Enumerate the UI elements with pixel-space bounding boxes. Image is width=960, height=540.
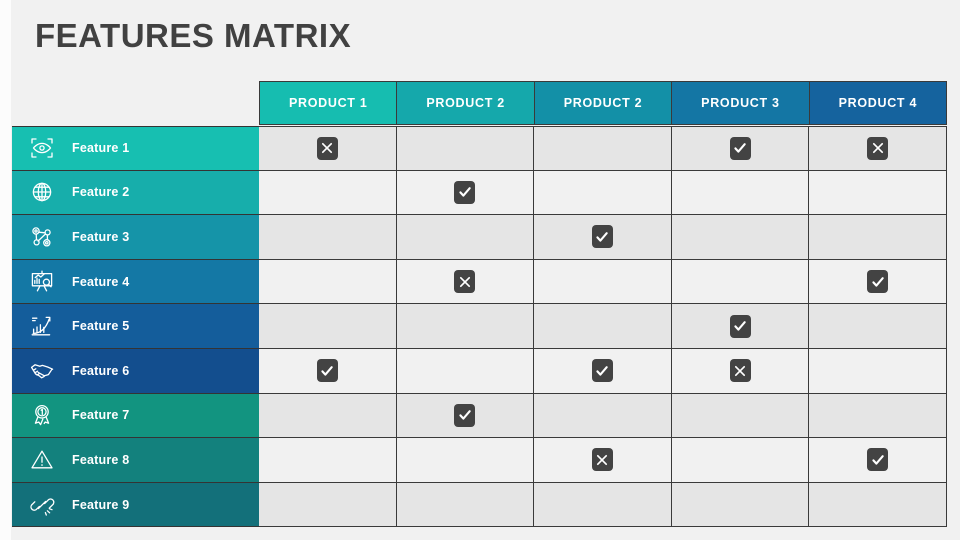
eye-scan-icon	[12, 135, 72, 161]
feature-label: Feature 4	[72, 275, 129, 289]
feature-label: Feature 3	[72, 230, 129, 244]
check-icon[interactable]	[730, 315, 751, 338]
check-icon[interactable]	[317, 359, 338, 382]
features-matrix-grid: Feature 1 Feature 2 Feature 3 Feature 4 …	[12, 126, 947, 527]
feature-label: Feature 1	[72, 141, 129, 155]
matrix-cell-r9-c1[interactable]	[259, 483, 397, 528]
product-header-cell-4[interactable]: PRODUCT 3	[672, 81, 809, 125]
check-icon[interactable]	[454, 404, 475, 427]
matrix-row: Feature 5	[12, 304, 947, 349]
check-icon[interactable]	[730, 137, 751, 160]
matrix-row: Feature 4	[12, 260, 947, 305]
check-icon[interactable]	[592, 359, 613, 382]
matrix-cell-r5-c3[interactable]	[534, 304, 672, 349]
globe-icon	[12, 179, 72, 205]
feature-cell-9[interactable]: Feature 9	[12, 483, 259, 528]
matrix-cell-r1-c3[interactable]	[534, 126, 672, 171]
matrix-cell-r7-c1[interactable]	[259, 394, 397, 439]
matrix-cell-r2-c3[interactable]	[534, 171, 672, 216]
matrix-cell-r1-c5[interactable]	[809, 126, 947, 171]
matrix-cell-r4-c2[interactable]	[397, 260, 535, 305]
left-edge-strip	[0, 0, 11, 540]
award-ribbon-icon	[12, 402, 72, 428]
matrix-row: Feature 6	[12, 349, 947, 394]
matrix-cell-r4-c1[interactable]	[259, 260, 397, 305]
product-header-cell-3[interactable]: PRODUCT 2	[535, 81, 672, 125]
matrix-cell-r6-c3[interactable]	[534, 349, 672, 394]
page-title: FEATURES MATRIX	[35, 17, 351, 55]
matrix-row: Feature 8	[12, 438, 947, 483]
matrix-cell-r2-c1[interactable]	[259, 171, 397, 216]
feature-label: Feature 7	[72, 408, 129, 422]
matrix-cell-r9-c5[interactable]	[809, 483, 947, 528]
matrix-cell-r9-c2[interactable]	[397, 483, 535, 528]
feature-label: Feature 2	[72, 185, 129, 199]
product-header-cell-2[interactable]: PRODUCT 2	[397, 81, 534, 125]
matrix-cell-r3-c5[interactable]	[809, 215, 947, 260]
check-icon[interactable]	[867, 270, 888, 293]
feature-cell-7[interactable]: Feature 7	[12, 394, 259, 439]
matrix-cell-r1-c4[interactable]	[672, 126, 810, 171]
matrix-cell-r3-c4[interactable]	[672, 215, 810, 260]
matrix-cell-r3-c3[interactable]	[534, 215, 672, 260]
network-nodes-icon	[12, 224, 72, 250]
feature-cell-8[interactable]: Feature 8	[12, 438, 259, 483]
broken-link-icon	[12, 492, 72, 518]
matrix-cell-r5-c2[interactable]	[397, 304, 535, 349]
cross-icon[interactable]	[867, 137, 888, 160]
feature-label: Feature 9	[72, 498, 129, 512]
feature-cell-5[interactable]: Feature 5	[12, 304, 259, 349]
growth-chart-icon	[12, 313, 72, 339]
matrix-cell-r3-c1[interactable]	[259, 215, 397, 260]
matrix-cell-r6-c2[interactable]	[397, 349, 535, 394]
check-icon[interactable]	[454, 181, 475, 204]
feature-cell-3[interactable]: Feature 3	[12, 215, 259, 260]
matrix-row: Feature 1	[12, 126, 947, 171]
matrix-cell-r7-c3[interactable]	[534, 394, 672, 439]
matrix-row: Feature 3	[12, 215, 947, 260]
feature-label: Feature 5	[72, 319, 129, 333]
check-icon[interactable]	[592, 225, 613, 248]
matrix-cell-r2-c4[interactable]	[672, 171, 810, 216]
matrix-cell-r1-c2[interactable]	[397, 126, 535, 171]
matrix-cell-r9-c3[interactable]	[534, 483, 672, 528]
matrix-row: Feature 7	[12, 394, 947, 439]
matrix-cell-r3-c2[interactable]	[397, 215, 535, 260]
matrix-cell-r6-c4[interactable]	[672, 349, 810, 394]
matrix-cell-r4-c4[interactable]	[672, 260, 810, 305]
matrix-row: Feature 2	[12, 171, 947, 216]
product-header-row: PRODUCT 1PRODUCT 2PRODUCT 2PRODUCT 3PROD…	[259, 81, 947, 125]
matrix-row: Feature 9	[12, 483, 947, 528]
matrix-cell-r8-c1[interactable]	[259, 438, 397, 483]
matrix-cell-r8-c5[interactable]	[809, 438, 947, 483]
cross-icon[interactable]	[454, 270, 475, 293]
product-header-cell-1[interactable]: PRODUCT 1	[259, 81, 397, 125]
matrix-cell-r7-c5[interactable]	[809, 394, 947, 439]
matrix-cell-r8-c2[interactable]	[397, 438, 535, 483]
matrix-cell-r7-c2[interactable]	[397, 394, 535, 439]
matrix-cell-r8-c3[interactable]	[534, 438, 672, 483]
matrix-cell-r4-c5[interactable]	[809, 260, 947, 305]
feature-label: Feature 8	[72, 453, 129, 467]
feature-cell-6[interactable]: Feature 6	[12, 349, 259, 394]
matrix-cell-r5-c5[interactable]	[809, 304, 947, 349]
matrix-cell-r1-c1[interactable]	[259, 126, 397, 171]
matrix-cell-r6-c1[interactable]	[259, 349, 397, 394]
matrix-cell-r6-c5[interactable]	[809, 349, 947, 394]
matrix-cell-r9-c4[interactable]	[672, 483, 810, 528]
matrix-cell-r2-c5[interactable]	[809, 171, 947, 216]
matrix-cell-r4-c3[interactable]	[534, 260, 672, 305]
warning-icon	[12, 447, 72, 473]
feature-cell-1[interactable]: Feature 1	[12, 126, 259, 171]
cross-icon[interactable]	[592, 448, 613, 471]
cross-icon[interactable]	[317, 137, 338, 160]
feature-cell-2[interactable]: Feature 2	[12, 171, 259, 216]
matrix-cell-r5-c4[interactable]	[672, 304, 810, 349]
feature-cell-4[interactable]: Feature 4	[12, 260, 259, 305]
matrix-cell-r5-c1[interactable]	[259, 304, 397, 349]
product-header-cell-5[interactable]: PRODUCT 4	[810, 81, 947, 125]
cross-icon[interactable]	[730, 359, 751, 382]
check-icon[interactable]	[867, 448, 888, 471]
chart-search-icon	[12, 269, 72, 295]
slide-canvas: FEATURES MATRIX PRODUCT 1PRODUCT 2PRODUC…	[0, 0, 960, 540]
feature-label: Feature 6	[72, 364, 129, 378]
matrix-cell-r2-c2[interactable]	[397, 171, 535, 216]
handshake-icon	[12, 358, 72, 384]
matrix-cell-r7-c4[interactable]	[672, 394, 810, 439]
matrix-cell-r8-c4[interactable]	[672, 438, 810, 483]
